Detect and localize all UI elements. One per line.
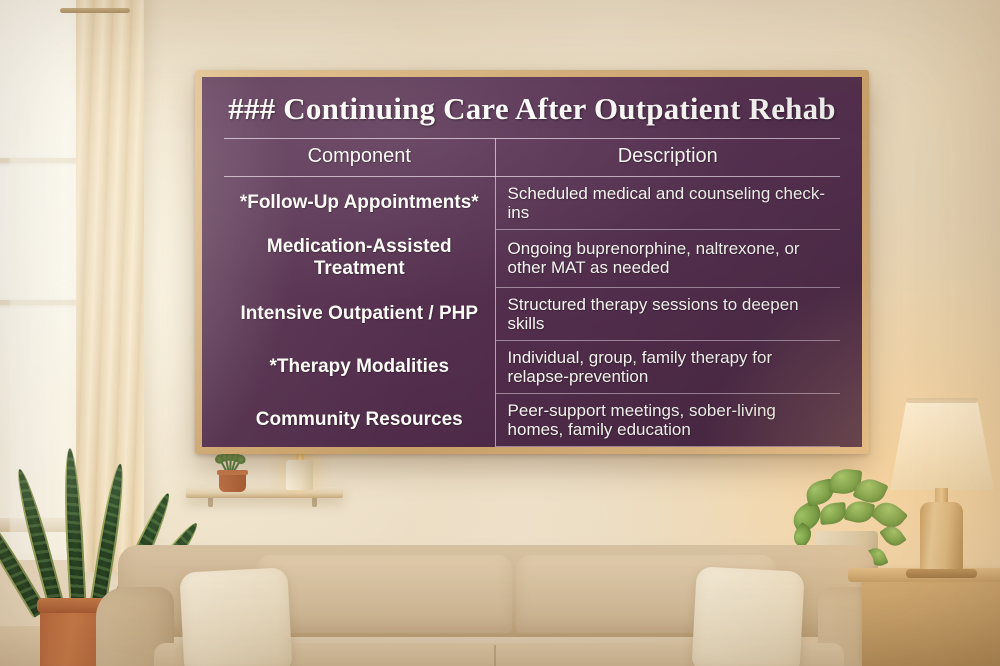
cell-description: Daily mindfflness, nutrition counseling,… [495, 446, 840, 447]
lamp-body [920, 502, 963, 574]
throw-pillow-right [691, 566, 804, 666]
side-table [862, 572, 1000, 666]
table-row: Medication-Assisted Treatment Ongoing bu… [224, 229, 840, 287]
cell-component: *Therapy Modalities [224, 340, 495, 393]
lamp-base [906, 569, 977, 578]
cell-description: Individual, group, family therapy for re… [495, 340, 840, 393]
sofa-back-cushion [256, 555, 512, 633]
table-header-row: Component Description [224, 138, 840, 176]
cell-component: Medication-Assisted Treatment [224, 229, 495, 287]
sofa-seat-divider [494, 645, 496, 666]
sofa [96, 545, 896, 666]
table-row: Intensive Outpatient / PHP Structured th… [224, 287, 840, 340]
cell-description: Structured therapy sessions to deepen sk… [495, 287, 840, 340]
throw-pillow-left [179, 567, 292, 666]
candle [286, 460, 313, 490]
table-row: *Therapy Modalities Individual, group, f… [224, 340, 840, 393]
cell-component: *Follow-Up Appointments* [224, 176, 495, 229]
table-body: *Follow-Up Appointments* Scheduled medic… [224, 176, 840, 447]
lamp-shade-rim [906, 398, 978, 403]
cell-description: Ongoing buprenorphine, naltrexone, or ot… [495, 229, 840, 287]
shelf-plant [205, 452, 257, 490]
table-row: *Holistic Practices Daily mindfflness, n… [224, 446, 840, 447]
table-row: *Follow-Up Appointments* Scheduled medic… [224, 176, 840, 229]
poster-canvas: ### Continuing Care After Outpatient Reh… [202, 77, 862, 447]
room-scene: ### Continuing Care After Outpatient Reh… [0, 0, 1000, 666]
curtain-rod [60, 8, 130, 13]
cell-description: Peer-support meetings, sober-living home… [495, 393, 840, 446]
lamp-shade [890, 400, 994, 490]
cell-description: Scheduled medical and counseling check-i… [495, 176, 840, 229]
column-header-description: Description [495, 138, 840, 176]
page-title: ### Continuing Care After Outpatient Reh… [224, 93, 840, 138]
table-row: Community Resources Peer-support meeting… [224, 393, 840, 446]
continuing-care-table: Component Description *Follow-Up Appoint… [224, 138, 840, 447]
column-header-component: Component [224, 138, 495, 176]
cell-component: *Holistic Practices [224, 446, 495, 447]
table-header: Component Description [224, 138, 840, 176]
shelf-pot [219, 470, 246, 492]
cell-component: Community Resources [224, 393, 495, 446]
framed-poster: ### Continuing Care After Outpatient Reh… [195, 70, 869, 454]
cell-component: Intensive Outpatient / PHP [224, 287, 495, 340]
